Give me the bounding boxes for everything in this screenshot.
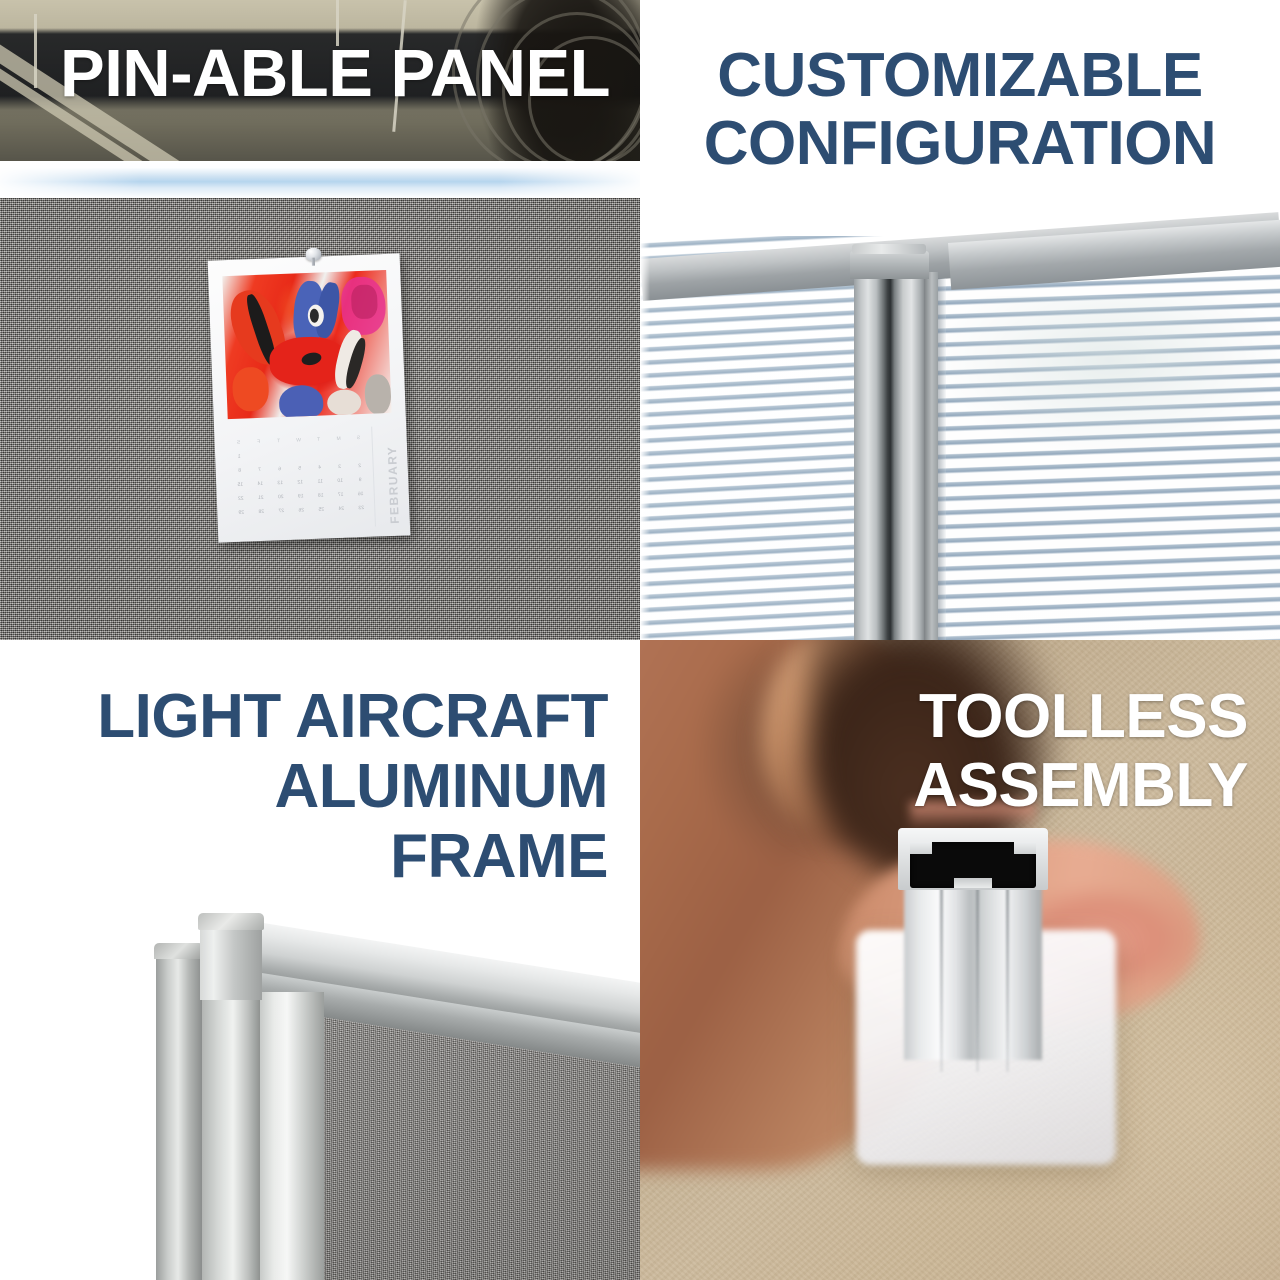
calendar-day: 9 (350, 473, 371, 488)
calendar-day: 26 (291, 503, 312, 518)
calendar-divider (371, 427, 376, 527)
frame-post-front (258, 992, 324, 1280)
pinned-calendar: FEBRUARY SMTWTFS123456789101112131415161… (208, 253, 411, 542)
calendar-day: 21 (251, 491, 272, 506)
window-sky-glare (940, 296, 1280, 456)
calendar-day: 2 (349, 459, 370, 474)
calendar-day (269, 448, 290, 463)
calendar-day: 10 (330, 473, 351, 488)
calendar-day: 15 (230, 477, 251, 492)
frame-post-rear (156, 954, 202, 1280)
divider-post-photo (640, 236, 1280, 640)
post-right-edge (924, 272, 938, 640)
post-cap-top (852, 244, 926, 254)
calendar-day: 20 (271, 490, 292, 505)
calendar-day: 24 (331, 501, 352, 516)
calendar-day (249, 449, 270, 464)
calendar-day: 28 (251, 505, 272, 520)
calendar-day: 18 (310, 488, 331, 503)
calendar-weekday: T (268, 434, 289, 449)
post-cap (850, 251, 929, 279)
calendar-day: 22 (231, 491, 252, 506)
calendar-day: 11 (310, 474, 331, 489)
panel-aluminum-frame: LIGHT AIRCRAFT ALUMINUM FRAME (0, 640, 640, 1280)
panel-customizable-configuration: CUSTOMIZABLE CONFIGURATION (640, 0, 1280, 640)
calendar-day (289, 447, 310, 462)
calendar-day: 16 (350, 487, 371, 502)
calendar-day: 3 (329, 459, 350, 474)
calendar-day: 8 (229, 463, 250, 478)
panel-pin-able: FEBRUARY SMTWTFS123456789101112131415161… (0, 0, 640, 640)
frame-post-mid (200, 996, 260, 1280)
calendar-day: 5 (289, 461, 310, 476)
calendar-day (309, 446, 330, 461)
headline-light-aircraft-aluminum-frame: LIGHT AIRCRAFT ALUMINUM FRAME (0, 682, 608, 892)
calendar-day: 12 (290, 475, 311, 490)
calendar-day: 23 (351, 501, 372, 516)
calendar-weekday: M (328, 432, 349, 447)
headline-toolless-assembly: TOOLLESS ASSEMBLY (640, 682, 1248, 821)
calendar-day (329, 446, 350, 461)
frame-corner-block-cap (198, 913, 264, 930)
calendar-day: 17 (330, 487, 351, 502)
calendar-month-label: FEBRUARY (384, 428, 402, 524)
calendar-day-grid: SMTWTFS123456789101112131415161718192021… (228, 431, 371, 528)
headline-pin-able-panel: PIN-ABLE PANEL (60, 40, 610, 108)
calendar-weekday: F (248, 435, 269, 450)
aluminum-extrusion (898, 820, 1048, 1060)
calendar-weekday: W (288, 433, 309, 448)
calendar-day: 29 (231, 505, 252, 520)
calendar-weekday: T (308, 432, 329, 447)
calendar-day: 13 (270, 476, 291, 491)
calendar-day: 4 (309, 460, 330, 475)
calendar-day: 7 (249, 463, 270, 478)
ceiling-hanger (34, 14, 37, 88)
pushpin-icon (303, 247, 324, 268)
calendar-day: 1 (229, 449, 250, 464)
photo-left-fade (640, 236, 650, 640)
panel-toolless-assembly: TOOLLESS ASSEMBLY (640, 640, 1280, 1280)
calendar-day (349, 445, 370, 460)
calendar-day: 6 (269, 462, 290, 477)
frame-corner-block (200, 925, 262, 1000)
calendar-day: 25 (311, 502, 332, 517)
calendar-day: 27 (271, 504, 292, 519)
calendar-weekday: S (228, 435, 249, 450)
frame-post-rear-cap (154, 943, 204, 959)
panel-top-edge (0, 161, 640, 198)
feature-collage: FEBRUARY SMTWTFS123456789101112131415161… (0, 0, 1280, 1280)
calendar-artwork (222, 270, 391, 419)
calendar-day: 14 (250, 477, 271, 492)
headline-customizable-configuration: CUSTOMIZABLE CONFIGURATION (640, 42, 1280, 178)
calendar-day: 19 (291, 489, 312, 504)
aluminum-divider-post (854, 272, 924, 640)
panel-glass-seam (938, 278, 946, 640)
calendar-weekday: S (348, 431, 369, 446)
